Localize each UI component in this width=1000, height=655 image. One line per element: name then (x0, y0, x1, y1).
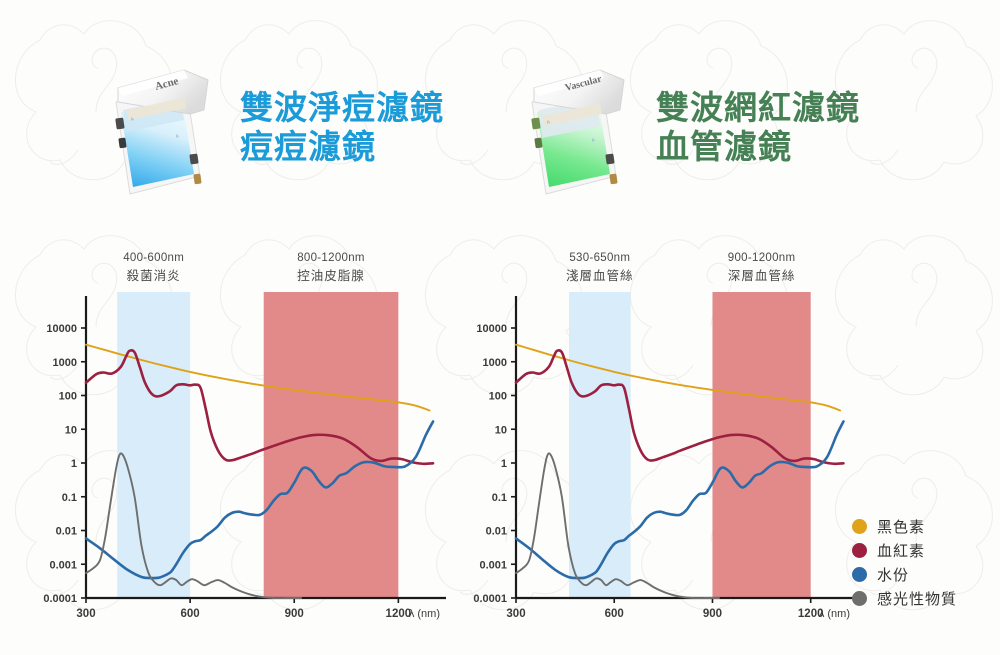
band-effect-label: 控油皮脂腺 (261, 267, 401, 285)
legend-item: 黑色素 (852, 516, 957, 537)
legend-item-label: 水份 (877, 564, 909, 585)
y-tick-label: 0.01 (56, 526, 77, 538)
band-range-label: 400-600nm (84, 250, 224, 267)
legend-item-label: 血紅素 (877, 540, 925, 561)
x-tick-label: 1200 (386, 608, 412, 620)
band-range-label: 900-1200nm (692, 250, 832, 267)
y-tick-label: 1 (71, 458, 77, 470)
absorption-chart-acne: 400-600nm殺菌消炎800-1200nm控油皮脂腺100001000100… (28, 250, 448, 650)
product-header-vascular: A A Vascular 雙波網紅濾鏡 血管濾鏡 (520, 58, 860, 198)
device-cartridge-vascular: A A Vascular (520, 58, 640, 198)
y-tick-label: 0.001 (49, 559, 77, 571)
chart-legend: 黑色素血紅素水份感光性物質 (852, 516, 957, 612)
band-effect-label: 淺層血管絲 (530, 267, 670, 285)
wavelength-band-red-band (712, 292, 810, 598)
y-tick-label: 1 (501, 458, 507, 470)
legend-swatch-icon (852, 519, 867, 534)
product-title-vascular-line1: 雙波網紅濾鏡 (656, 89, 860, 128)
y-tick-label: 10 (65, 424, 77, 436)
x-tick-label: 300 (506, 608, 525, 620)
chart-canvas: 1000010001001010.10.010.0010.00013006009… (458, 250, 858, 650)
y-tick-label: 0.0001 (473, 593, 507, 605)
y-tick-label: 0.0001 (43, 593, 77, 605)
chart-canvas: 1000010001001010.10.010.0010.00013006009… (28, 250, 448, 650)
device-cartridge-acne: A A Acne (104, 58, 224, 198)
y-tick-label: 0.1 (62, 492, 77, 504)
x-tick-label: 300 (76, 608, 95, 620)
y-tick-label: 0.001 (479, 559, 507, 571)
product-title-acne-line1: 雙波淨痘濾鏡 (240, 89, 444, 128)
band-caption: 800-1200nm控油皮脂腺 (261, 250, 401, 285)
legend-swatch-icon (852, 591, 867, 606)
band-range-label: 800-1200nm (261, 250, 401, 267)
y-tick-label: 1000 (483, 357, 507, 369)
wavelength-band-blue-band (117, 292, 190, 598)
legend-swatch-icon (852, 567, 867, 582)
y-tick-label: 10 (495, 424, 507, 436)
y-tick-label: 10000 (46, 323, 77, 335)
product-title-vascular: 雙波網紅濾鏡 血管濾鏡 (656, 89, 860, 167)
legend-item: 水份 (852, 564, 957, 585)
y-tick-label: 100 (489, 391, 507, 403)
x-tick-label: 900 (285, 608, 304, 620)
absorption-chart-vascular: 530-650nm淺層血管絲900-1200nm深層血管絲10000100010… (458, 250, 858, 650)
wavelength-band-blue-band (569, 292, 631, 598)
band-effect-label: 深層血管絲 (692, 267, 832, 285)
band-caption: 400-600nm殺菌消炎 (84, 250, 224, 285)
x-axis-label: λ (nm) (409, 608, 440, 620)
y-tick-label: 0.01 (486, 526, 507, 538)
legend-swatch-icon (852, 543, 867, 558)
legend-item-label: 感光性物質 (877, 588, 957, 609)
product-title-vascular-line2: 血管濾鏡 (656, 128, 860, 167)
legend-item-label: 黑色素 (877, 516, 925, 537)
band-range-label: 530-650nm (530, 250, 670, 267)
band-effect-label: 殺菌消炎 (84, 267, 224, 285)
legend-item: 感光性物質 (852, 588, 957, 609)
product-header-acne: A A Acne 雙波淨痘濾鏡 痘痘濾鏡 (104, 58, 444, 198)
band-caption: 900-1200nm深層血管絲 (692, 250, 832, 285)
product-title-acne: 雙波淨痘濾鏡 痘痘濾鏡 (240, 89, 444, 167)
x-tick-label: 900 (703, 608, 722, 620)
wavelength-band-red-band (264, 292, 399, 598)
x-axis-label: λ (nm) (819, 608, 850, 620)
product-title-acne-line2: 痘痘濾鏡 (240, 128, 444, 167)
x-tick-label: 600 (605, 608, 624, 620)
y-tick-label: 0.1 (492, 492, 507, 504)
y-tick-label: 1000 (53, 357, 77, 369)
band-caption: 530-650nm淺層血管絲 (530, 250, 670, 285)
legend-item: 血紅素 (852, 540, 957, 561)
x-tick-label: 600 (181, 608, 200, 620)
y-tick-label: 10000 (476, 323, 507, 335)
y-tick-label: 100 (59, 391, 77, 403)
